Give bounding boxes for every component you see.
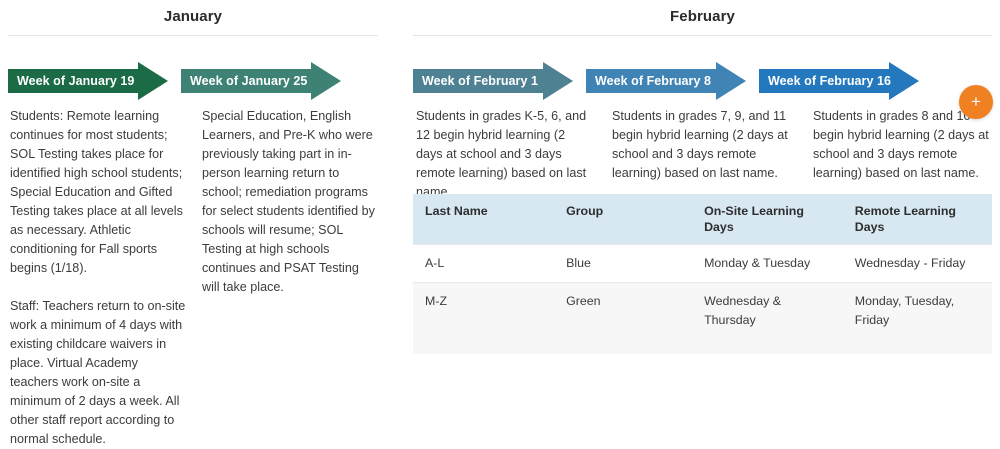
month-section-january: January bbox=[8, 0, 378, 36]
arrow-head bbox=[138, 62, 168, 100]
arrow-head bbox=[543, 62, 573, 100]
description-paragraph: Special Education, English Learners, and… bbox=[202, 107, 378, 297]
week-banner-label: Week of January 19 bbox=[8, 69, 134, 93]
month-divider-february bbox=[413, 35, 992, 36]
cell-on-site-days: Monday & Tuesday bbox=[692, 245, 843, 283]
arrow-shape: Week of January 25 bbox=[181, 62, 341, 100]
hybrid-schedule-table: Last Name Group On-Site Learning Days Re… bbox=[413, 194, 992, 354]
table-row: A-L Blue Monday & Tuesday Wednesday - Fr… bbox=[413, 245, 992, 283]
arrow-head bbox=[716, 62, 746, 100]
arrow-shape: Week of February 8 bbox=[586, 62, 746, 100]
cell-remote-days: Wednesday - Friday bbox=[843, 245, 992, 283]
month-divider-january bbox=[8, 35, 378, 36]
cell-remote-days: Monday, Tuesday, Friday bbox=[843, 283, 992, 355]
cell-on-site-days: Wednesday & Thursday bbox=[692, 283, 843, 355]
description-column-february-1: Students in grades K-5, 6, and 12 begin … bbox=[416, 107, 593, 202]
arrow-shape: Week of February 16 bbox=[759, 62, 919, 100]
arrow-head bbox=[311, 62, 341, 100]
month-section-february: February bbox=[413, 0, 992, 36]
description-column-january-25: Special Education, English Learners, and… bbox=[202, 107, 378, 297]
cell-group: Blue bbox=[554, 245, 692, 283]
description-paragraph: Staff: Teachers return to on-site work a… bbox=[10, 297, 188, 449]
add-button[interactable]: + bbox=[959, 85, 993, 119]
column-header-last-name: Last Name bbox=[413, 194, 554, 245]
column-header-remote-learning-days: Remote Learning Days bbox=[843, 194, 992, 245]
week-banner-label: Week of February 16 bbox=[759, 69, 891, 93]
table-header-row: Last Name Group On-Site Learning Days Re… bbox=[413, 194, 992, 245]
month-title-february: February bbox=[413, 8, 992, 26]
week-banner-label: Week of February 1 bbox=[413, 69, 538, 93]
week-banner-label: Week of January 25 bbox=[181, 69, 307, 93]
week-banner-label: Week of February 8 bbox=[586, 69, 711, 93]
plus-icon: + bbox=[959, 85, 993, 119]
column-header-group: Group bbox=[554, 194, 692, 245]
cell-group: Green bbox=[554, 283, 692, 355]
description-column-february-8: Students in grades 7, 9, and 11 begin hy… bbox=[612, 107, 789, 183]
description-paragraph: Students in grades K-5, 6, and 12 begin … bbox=[416, 107, 593, 202]
cell-last-name: M-Z bbox=[413, 283, 554, 355]
table-row: M-Z Green Wednesday & Thursday Monday, T… bbox=[413, 283, 992, 355]
description-paragraph: Students: Remote learning continues for … bbox=[10, 107, 188, 278]
arrow-head bbox=[889, 62, 919, 100]
week-banner-row-february: Week of February 1 Week of February 8 We… bbox=[413, 62, 919, 100]
arrow-shape: Week of February 1 bbox=[413, 62, 573, 100]
description-paragraph: Students in grades 7, 9, and 11 begin hy… bbox=[612, 107, 789, 183]
week-banner-january-19[interactable]: Week of January 19 bbox=[8, 62, 168, 100]
week-banner-row-january: Week of January 19 Week of January 25 bbox=[8, 62, 341, 100]
cell-last-name: A-L bbox=[413, 245, 554, 283]
description-column-january-19: Students: Remote learning continues for … bbox=[10, 107, 188, 449]
week-banner-february-8[interactable]: Week of February 8 bbox=[586, 62, 746, 100]
arrow-shape: Week of January 19 bbox=[8, 62, 168, 100]
week-banner-january-25[interactable]: Week of January 25 bbox=[181, 62, 341, 100]
month-title-january: January bbox=[8, 8, 378, 26]
week-banner-february-1[interactable]: Week of February 1 bbox=[413, 62, 573, 100]
week-banner-february-16[interactable]: Week of February 16 bbox=[759, 62, 919, 100]
column-header-on-site-learning-days: On-Site Learning Days bbox=[692, 194, 843, 245]
